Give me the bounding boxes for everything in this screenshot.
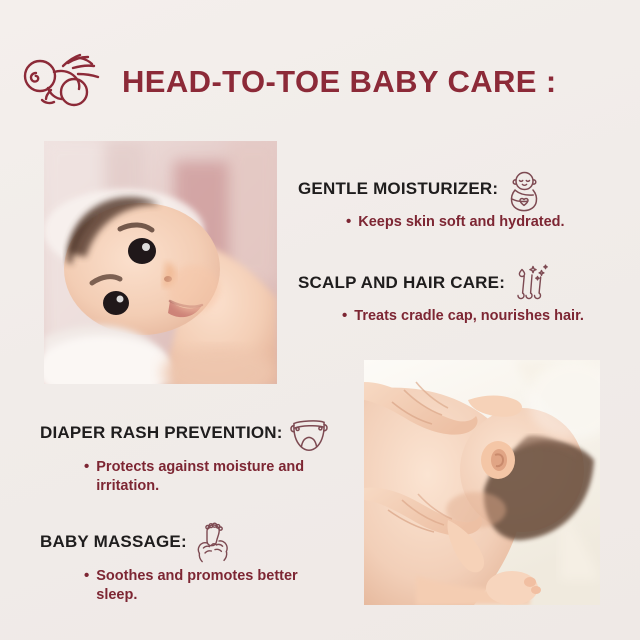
- section-title-scalp-hair-care: SCALP AND HAIR CARE:: [298, 274, 505, 293]
- hair-follicles-sparkle-icon: [511, 262, 551, 304]
- bullet-item: • Soothes and promotes better sleep.: [84, 567, 342, 605]
- section-diaper-rash-prevention: DIAPER RASH PREVENTION:: [40, 412, 355, 496]
- bullet-text: Protects against moisture and irritation…: [96, 458, 346, 496]
- bullet-marker: •: [342, 307, 347, 326]
- section-head: SCALP AND HAIR CARE:: [298, 262, 638, 304]
- section-baby-massage: BABY MASSAGE:: [40, 521, 355, 605]
- bullet-text: Keeps skin soft and hydrated.: [358, 213, 564, 232]
- photo-baby-massage: [364, 360, 600, 605]
- section-title-diaper-rash-prevention: DIAPER RASH PREVENTION:: [40, 424, 283, 443]
- swaddled-baby-icon: [504, 168, 544, 210]
- section-title-gentle-moisturizer: GENTLE MOISTURIZER:: [298, 180, 498, 199]
- section-gentle-moisturizer: GENTLE MOISTURIZER:: [298, 168, 628, 232]
- bullet-item: • Protects against moisture and irritati…: [84, 458, 346, 496]
- bullet-marker: •: [346, 213, 351, 232]
- section-head: BABY MASSAGE:: [40, 521, 355, 563]
- bullet-marker: •: [84, 458, 89, 477]
- infographic-canvas: HEAD-TO-TOE BABY CARE :: [0, 0, 640, 640]
- photo-baby-face: [44, 141, 277, 384]
- section-head: GENTLE MOISTURIZER:: [298, 168, 628, 210]
- bullet-text: Treats cradle cap, nourishes hair.: [354, 307, 584, 326]
- bullet-item: • Treats cradle cap, nourishes hair.: [342, 307, 638, 326]
- foot-massage-hands-icon: [193, 521, 233, 563]
- page-title: HEAD-TO-TOE BABY CARE :: [122, 66, 557, 97]
- diaper-icon: [289, 412, 329, 454]
- bullet-text: Soothes and promotes better sleep.: [96, 567, 342, 605]
- section-title-baby-massage: BABY MASSAGE:: [40, 533, 187, 552]
- section-head: DIAPER RASH PREVENTION:: [40, 412, 355, 454]
- page-title-row: HEAD-TO-TOE BABY CARE :: [18, 46, 628, 116]
- section-scalp-hair-care: SCALP AND HAIR CARE:: [298, 262, 638, 326]
- bullet-marker: •: [84, 567, 89, 586]
- baby-lying-with-hand-icon: [18, 48, 110, 114]
- bullet-item: • Keeps skin soft and hydrated.: [346, 213, 628, 232]
